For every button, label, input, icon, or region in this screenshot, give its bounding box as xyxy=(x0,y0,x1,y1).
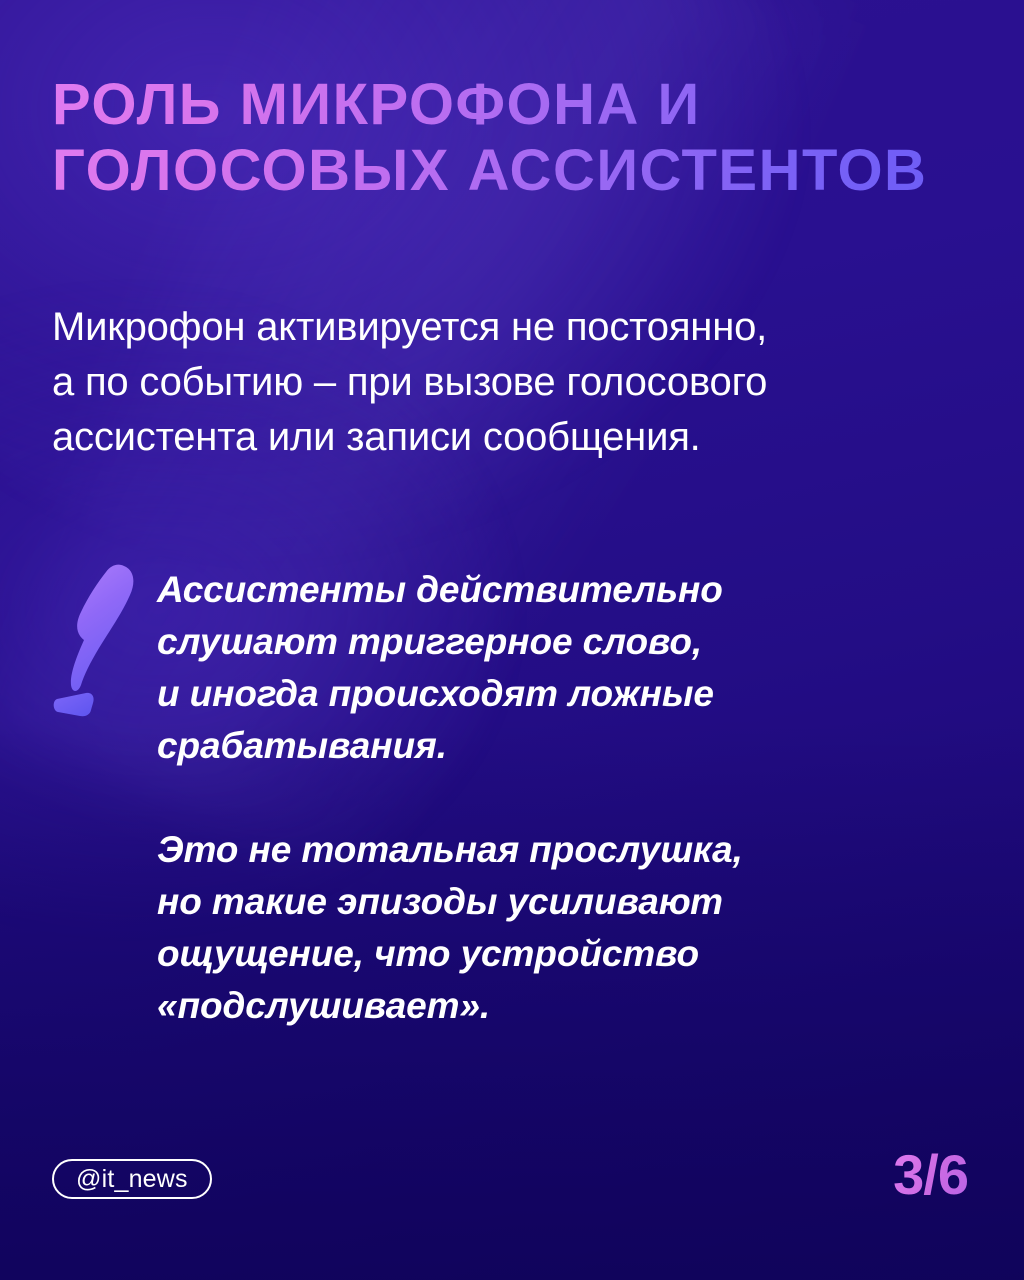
exclamation-mark-icon xyxy=(52,560,157,720)
slide-content: РОЛЬ МИКРОФОНА И ГОЛОСОВЫХ АССИСТЕНТОВ М… xyxy=(0,0,1024,1280)
exclamation-stroke xyxy=(71,565,133,691)
quote-block: Ассистенты действительно слушают триггер… xyxy=(52,556,952,1032)
handle-badge[interactable]: @it_news xyxy=(52,1159,212,1199)
slide-title: РОЛЬ МИКРОФОНА И ГОЛОСОВЫХ АССИСТЕНТОВ xyxy=(52,72,972,204)
exclamation-dot xyxy=(54,693,94,716)
quote-paragraph-1: Ассистенты действительно слушают триггер… xyxy=(157,564,743,772)
intro-paragraph: Микрофон активируется не постоянно, а по… xyxy=(52,300,932,465)
slide-root: РОЛЬ МИКРОФОНА И ГОЛОСОВЫХ АССИСТЕНТОВ М… xyxy=(0,0,1024,1280)
quote-paragraph-2: Это не тотальная прослушка, но такие эпи… xyxy=(157,824,743,1032)
quote-text-group: Ассистенты действительно слушают триггер… xyxy=(157,556,743,1032)
page-number: 3/6 xyxy=(893,1144,968,1206)
